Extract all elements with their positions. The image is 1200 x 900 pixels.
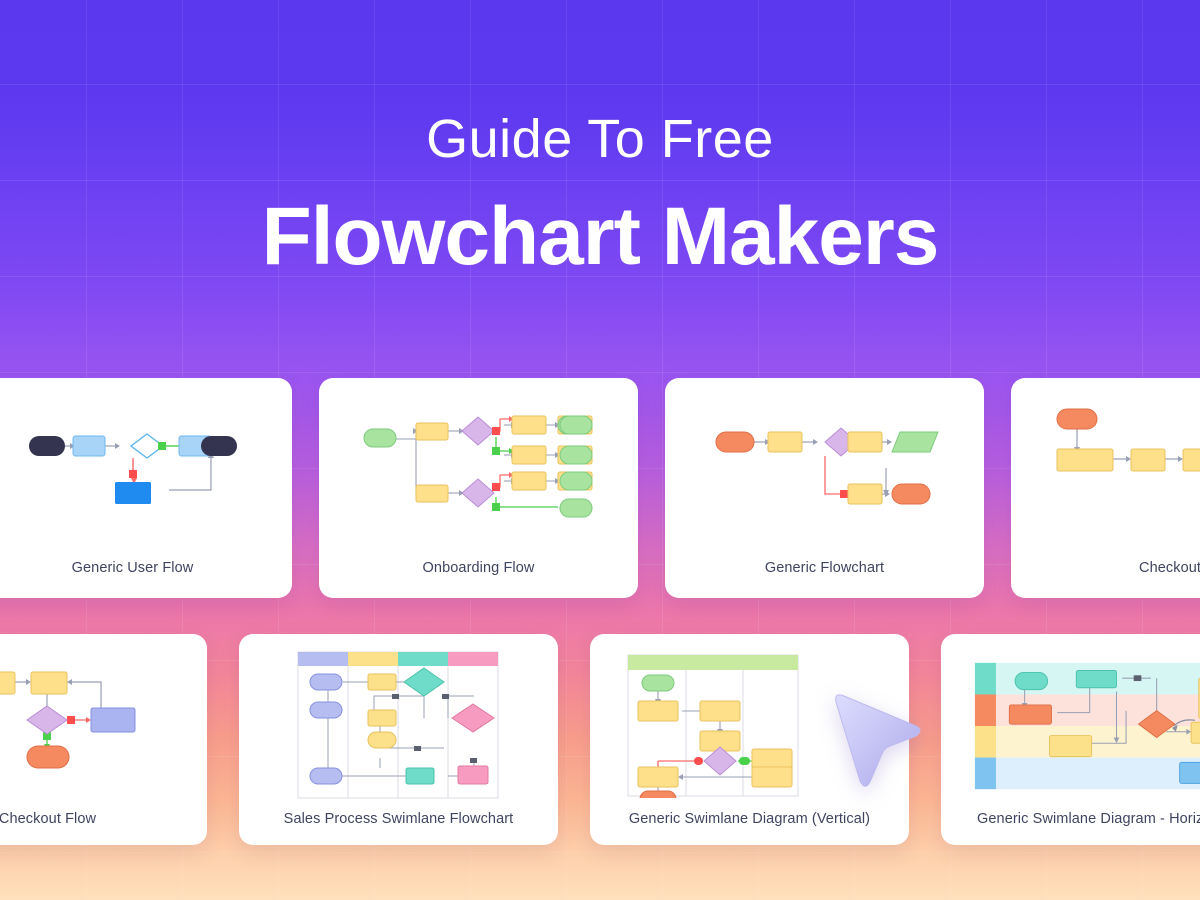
diagram-onboarding-flow: [354, 407, 604, 537]
thumbnail-generic-user-flow: [0, 378, 292, 560]
diagram-generic-user-flow: [3, 412, 263, 532]
template-card-generic-flowchart[interactable]: Generic Flowchart: [665, 378, 984, 598]
lane-header-band: [628, 655, 798, 670]
port-no: [694, 757, 703, 765]
port-no-2: [492, 483, 500, 491]
card-label: Generic User Flow: [72, 560, 194, 598]
node-task-1: [512, 416, 546, 434]
lane-label-1: [975, 662, 996, 694]
template-card-swimlane-horizontal[interactable]: Generic Swimlane Diagram - Horizontal: [941, 634, 1200, 845]
node-step-6: [638, 767, 678, 787]
node-lane3-task-a: [1050, 735, 1092, 756]
port-no-1: [492, 427, 500, 435]
node-step-2: [700, 701, 740, 721]
lane-band-4: [975, 757, 1200, 789]
node-step-3: [1183, 449, 1200, 471]
node-process-1: [73, 436, 105, 456]
node-step-2: [416, 485, 448, 502]
node-end-a: [560, 416, 592, 434]
card-label: Generic Swimlane Diagram - Horizontal: [941, 811, 1200, 845]
node-end: [640, 791, 676, 798]
node-end-c: [560, 472, 592, 490]
node-lane1-task: [1076, 670, 1116, 687]
card-label: Onboarding Flow: [423, 560, 535, 598]
template-card-checkout-flow-top[interactable]: Checkout Flow: [1011, 378, 1200, 598]
node-task-3: [512, 446, 546, 464]
template-card-onboarding-flow[interactable]: Onboarding Flow: [319, 378, 638, 598]
template-card-checkout-flow[interactable]: Checkout Flow: [0, 634, 207, 845]
port-yes-1: [492, 447, 500, 455]
node-start: [29, 436, 65, 456]
node-lane4-task: [1180, 762, 1200, 783]
page-title: Flowchart Makers: [0, 196, 1200, 278]
node-step-1: [0, 672, 15, 694]
node-start: [1057, 409, 1097, 429]
lane-header-1: [298, 652, 348, 666]
node-lane3-task-b: [1191, 722, 1200, 743]
node-data: [892, 432, 938, 452]
thumbnail-checkout-flow: [0, 634, 207, 811]
node-step-2: [1131, 449, 1165, 471]
node-process-1: [768, 432, 802, 452]
node-lane2-task: [1009, 704, 1051, 723]
port-no: [840, 490, 848, 498]
node-lane2-a: [368, 674, 396, 690]
lane-header-4: [448, 652, 498, 666]
node-decision-1: [462, 417, 494, 445]
template-card-generic-user-flow[interactable]: Generic User Flow: [0, 378, 292, 598]
node-end-d: [560, 499, 592, 517]
node-highlight: [115, 482, 151, 504]
node-start: [1015, 672, 1048, 689]
card-label: Checkout Flow: [1011, 560, 1200, 598]
gallery-row-top: Generic User Flow: [0, 378, 1200, 598]
gallery-row-bottom: Checkout Flow: [0, 634, 1200, 845]
node-lane1-c: [310, 768, 342, 784]
thumbnail-swimlane-horizontal: [941, 634, 1200, 811]
diagram-swimlane-vertical: [626, 653, 801, 798]
node-lane3-task: [406, 768, 434, 784]
template-card-sales-swimlane[interactable]: Sales Process Swimlane Flowchart: [239, 634, 558, 845]
hero-kicker: Guide To Free: [0, 112, 1200, 166]
card-label: Generic Flowchart: [765, 560, 884, 598]
node-lane2-b: [368, 710, 396, 726]
thumbnail-sales-swimlane: [239, 634, 558, 811]
lane-header-3: [398, 652, 448, 666]
node-lane2-c: [368, 732, 396, 748]
node-step-4: [752, 749, 792, 769]
diagram-generic-flowchart: [692, 410, 957, 535]
port-no: [67, 716, 75, 724]
node-start: [642, 675, 674, 691]
port-yes: [158, 442, 166, 450]
port-no: [129, 470, 137, 478]
thumbnail-checkout-flow-top: [1011, 378, 1200, 560]
card-label: Sales Process Swimlane Flowchart: [284, 811, 514, 845]
diagram-checkout-flow-top: [1045, 395, 1200, 515]
lane-label-3: [975, 726, 996, 758]
lane-label-4: [975, 757, 996, 789]
node-decision-2: [462, 479, 494, 507]
node-lane1-b: [310, 702, 342, 718]
node-step-2: [31, 672, 67, 694]
node-step-1: [416, 423, 448, 440]
node-step-5: [752, 767, 792, 787]
diagram-sales-swimlane: [296, 650, 501, 802]
port-yes-2: [492, 503, 500, 511]
node-end: [27, 746, 69, 768]
node-step-1: [1057, 449, 1113, 471]
node-lane4-task: [458, 766, 488, 784]
template-card-swimlane-vertical[interactable]: Generic Swimlane Diagram (Vertical): [590, 634, 909, 845]
node-end: [892, 484, 930, 504]
lane-label-2: [975, 694, 996, 726]
node-task-5: [512, 472, 546, 490]
hero-section: Guide To Free Flowchart Makers: [0, 0, 1200, 278]
node-end-b: [560, 446, 592, 464]
node-decision: [27, 706, 67, 734]
port-yes: [739, 757, 750, 765]
thumbnail-onboarding-flow: [319, 378, 638, 560]
node-process-3: [848, 484, 882, 504]
diagram-swimlane-horizontal: [973, 656, 1200, 796]
node-step-1: [638, 701, 678, 721]
node-start: [716, 432, 754, 452]
node-start: [364, 429, 396, 447]
card-label: Checkout Flow: [0, 811, 96, 845]
card-label: Generic Swimlane Diagram (Vertical): [629, 811, 870, 845]
lane-header-2: [348, 652, 398, 666]
node-retry: [91, 708, 135, 732]
diagram-checkout-flow: [0, 658, 185, 793]
thumbnail-swimlane-vertical: [590, 634, 909, 811]
node-lane1-a: [310, 674, 342, 690]
node-process-2: [848, 432, 882, 452]
thumbnail-generic-flowchart: [665, 378, 984, 560]
node-end: [201, 436, 237, 456]
